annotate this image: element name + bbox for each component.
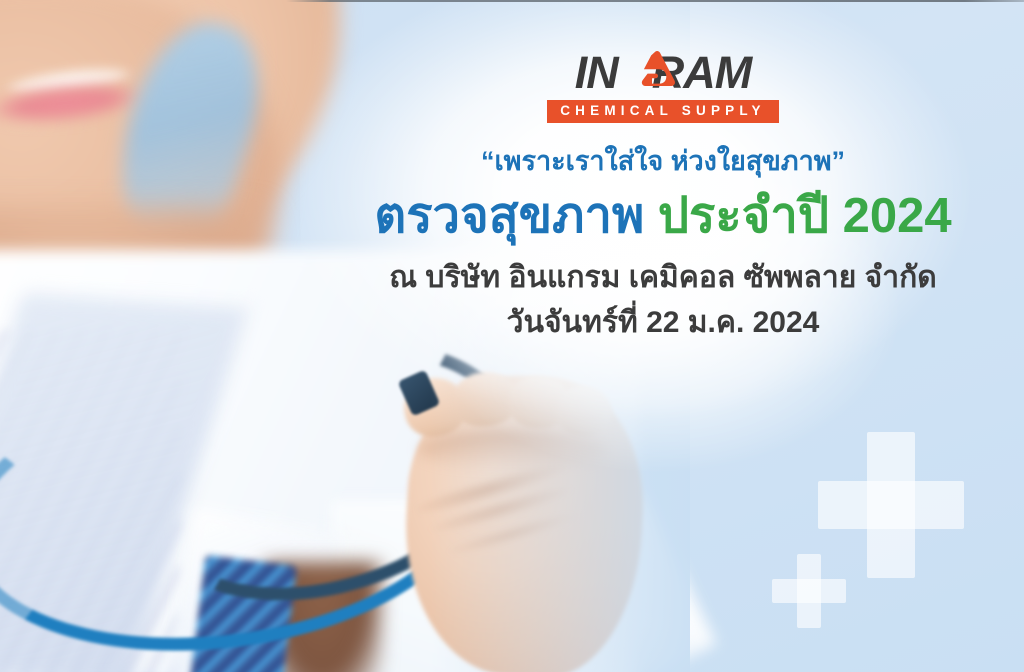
ingram-wordmark: IN RAM xyxy=(547,48,779,96)
ingram-logo: IN RAM CHEMICAL SUPPLY xyxy=(547,48,779,123)
cross-horizontal-bar xyxy=(772,579,846,603)
headline-green-part: ประจำปี 2024 xyxy=(658,189,952,243)
health-checkup-poster: IN RAM CHEMICAL SUPPLY “เพราะเราใส่ใจ ห่… xyxy=(0,0,1024,672)
top-divider xyxy=(286,0,1024,2)
poster-headline: ตรวจสุขภาพ ประจำปี 2024 xyxy=(330,188,996,246)
poster-date: วันจันทร์ที่ 22 ม.ค. 2024 xyxy=(330,303,996,342)
poster-venue: ณ บริษัท อินแกรม เคมิคอล ซัพพลาย จำกัด xyxy=(330,258,996,297)
poster-tagline: “เพราะเราใส่ใจ ห่วงใยสุขภาพ” xyxy=(330,145,996,179)
wordmark-part-in: IN xyxy=(575,50,618,95)
poster-content: IN RAM CHEMICAL SUPPLY “เพราะเราใส่ใจ ห่… xyxy=(330,48,996,342)
chemical-supply-bar: CHEMICAL SUPPLY xyxy=(547,100,779,123)
ingram-g-mark-icon xyxy=(633,50,677,94)
headline-blue-part: ตรวจสุขภาพ xyxy=(374,189,644,243)
cross-horizontal-bar xyxy=(818,481,964,529)
medical-cross-icon-small xyxy=(772,554,846,628)
